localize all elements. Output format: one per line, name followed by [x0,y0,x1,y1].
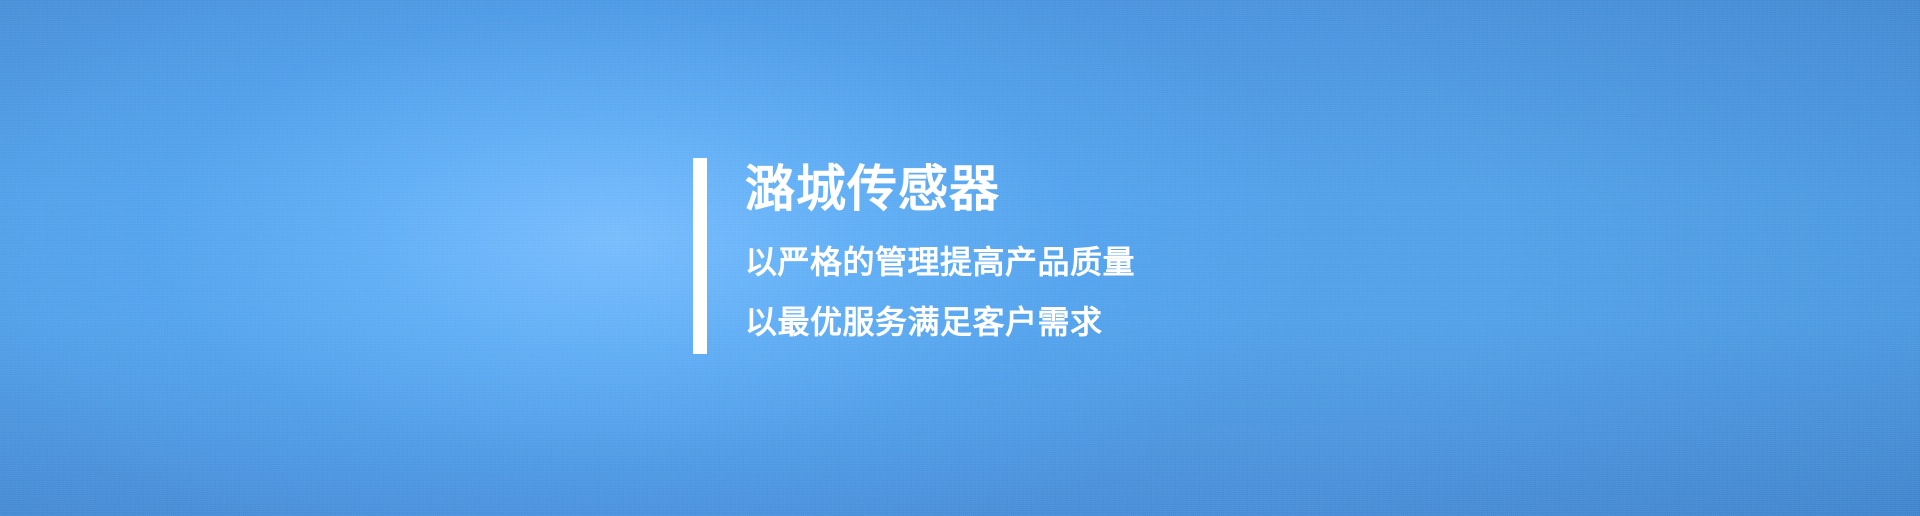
company-title: 潞城传感器 [745,160,1135,218]
hero-text-block: 潞城传感器 以严格的管理提高产品质量 以最优服务满足客户需求 [745,158,1135,342]
hero-banner: 潞城传感器 以严格的管理提高产品质量 以最优服务满足客户需求 [0,0,1920,516]
tagline-line-2: 以最优服务满足客户需求 [745,302,1135,342]
vertical-accent-bar-icon [693,158,707,354]
tagline-line-1: 以严格的管理提高产品质量 [745,242,1135,282]
hero-content: 潞城传感器 以严格的管理提高产品质量 以最优服务满足客户需求 [693,158,1135,354]
